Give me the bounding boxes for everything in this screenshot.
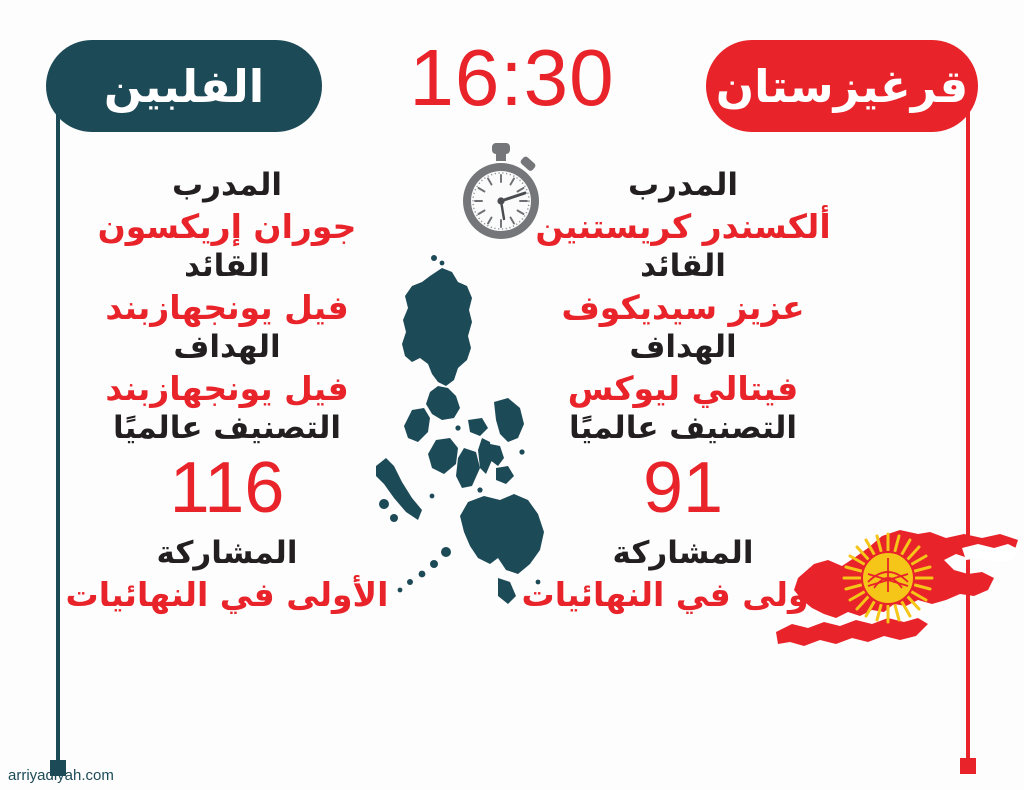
infographic-root: الفلبين قرغيزستان 16:30 xyxy=(0,0,1024,790)
stat-label-coach-left: المدرب xyxy=(62,166,392,206)
stat-label-captain-right: القائد xyxy=(518,247,848,287)
stats-column-right: المدرب ألكسندر كريستنين القائد عزيز سيدي… xyxy=(518,166,848,615)
stat-value-appearance-right: الأولى في النهائيات xyxy=(518,574,848,615)
stat-label-topscorer-left: الهداف xyxy=(62,328,392,368)
connector-cap-right xyxy=(960,758,976,774)
stat-value-captain-left: فيل يونجهازبند xyxy=(62,287,392,328)
kickoff-time: 16:30 xyxy=(0,38,1024,118)
stat-label-appearance-left: المشاركة xyxy=(62,534,392,574)
stat-value-topscorer-left: فيل يونجهازبند xyxy=(62,368,392,409)
stat-value-captain-right: عزيز سيديكوف xyxy=(518,287,848,328)
stat-label-coach-right: المدرب xyxy=(518,166,848,206)
stat-label-appearance-right: المشاركة xyxy=(518,534,848,574)
stat-value-ranking-left: 116 xyxy=(62,450,392,528)
watermark: arriyadiyah.com xyxy=(8,767,114,784)
stat-label-captain-left: القائد xyxy=(62,247,392,287)
stat-label-ranking-left: التصنيف عالميًا xyxy=(62,409,392,449)
stat-label-ranking-right: التصنيف عالميًا xyxy=(518,409,848,449)
stat-value-coach-right: ألكسندر كريستنين xyxy=(518,206,848,247)
stats-column-left: المدرب جوران إريكسون القائد فيل يونجهازب… xyxy=(62,166,392,615)
connector-line-left xyxy=(56,84,60,764)
stat-value-coach-left: جوران إريكسون xyxy=(62,206,392,247)
stat-value-appearance-left: الأولى في النهائيات xyxy=(62,574,392,615)
stat-label-topscorer-right: الهداف xyxy=(518,328,848,368)
stat-value-ranking-right: 91 xyxy=(518,450,848,528)
stat-value-topscorer-right: فيتالي ليوكس xyxy=(518,368,848,409)
